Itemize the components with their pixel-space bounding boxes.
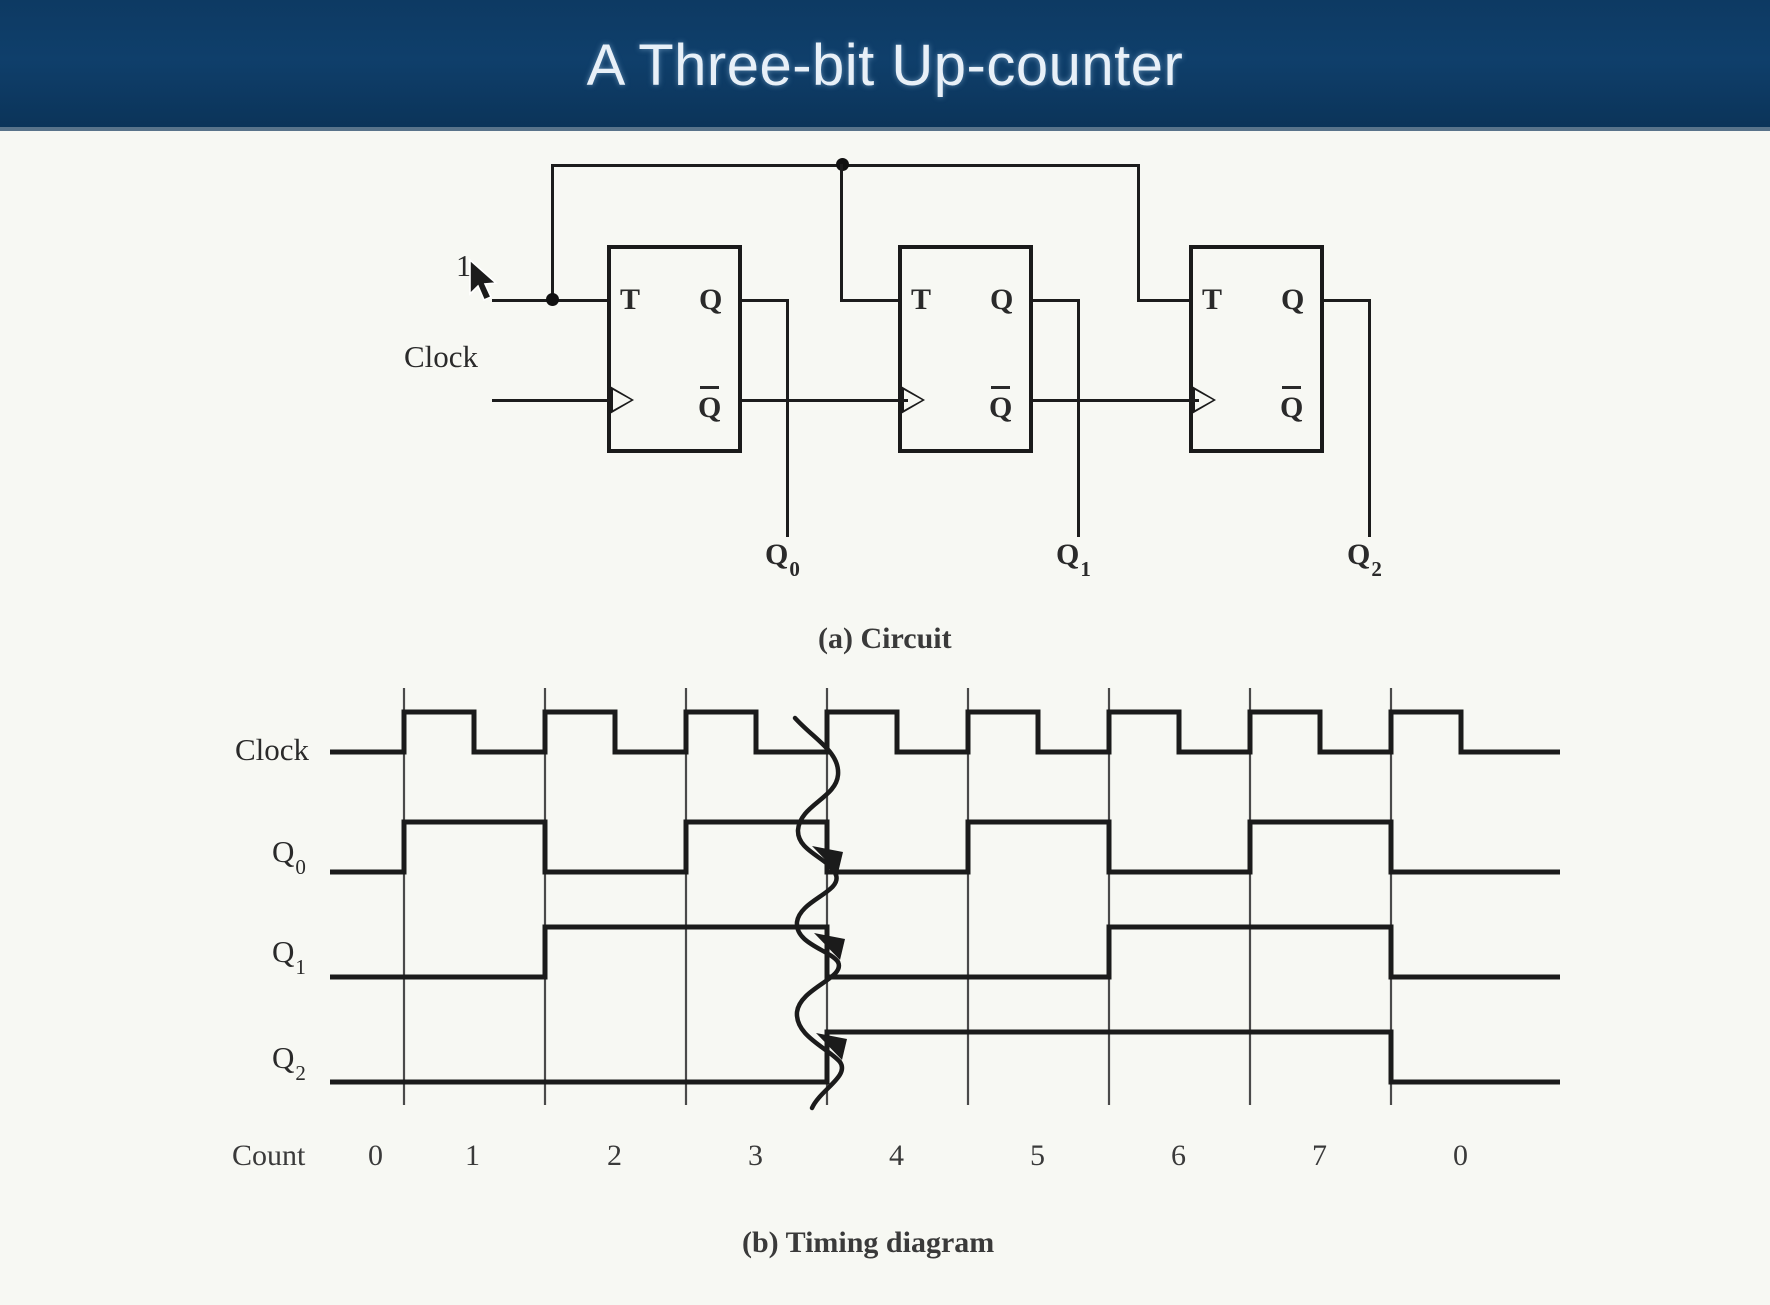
slide-root: A Three-bit Up-counter 1 Clock T Q Q (0, 0, 1770, 1305)
count-value-5: 5 (1030, 1139, 1045, 1173)
count-value-7: 7 (1312, 1139, 1327, 1173)
timing-waveforms (0, 0, 1770, 1305)
count-value-4: 4 (889, 1139, 904, 1173)
count-value-3: 3 (748, 1139, 763, 1173)
waveform-q2 (330, 1032, 1560, 1082)
count-value-2: 2 (607, 1139, 622, 1173)
count-row-label: Count (232, 1139, 305, 1173)
count-value-1: 1 (465, 1139, 480, 1173)
count-value-8: 0 (1453, 1139, 1468, 1173)
count-value-0: 0 (368, 1139, 383, 1173)
waveform-q1 (330, 927, 1560, 977)
waveform-q0 (330, 822, 1560, 872)
timing-caption: (b) Timing diagram (742, 1226, 994, 1260)
waveform-clock (330, 712, 1560, 752)
count-value-6: 6 (1171, 1139, 1186, 1173)
